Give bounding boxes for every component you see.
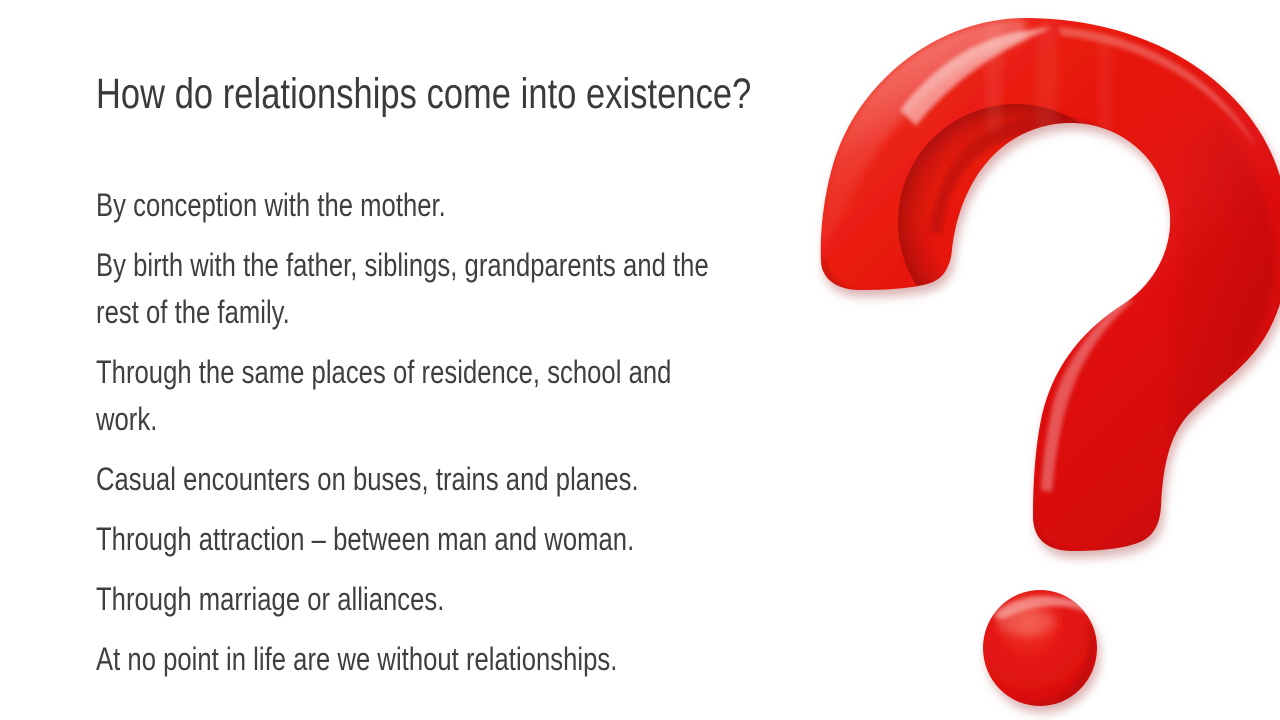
slide-canvas: How do relationships come into existence…	[0, 0, 1280, 720]
list-item: At no point in life are we without relat…	[96, 636, 916, 683]
list-item: By conception with the mother.	[96, 182, 916, 229]
bullet-list: By conception with the mother. By birth …	[96, 182, 916, 683]
list-item: Through attraction – between man and wom…	[96, 516, 916, 563]
list-item: By birth with the father, siblings, gran…	[96, 242, 736, 336]
list-item: Through the same places of residence, sc…	[96, 349, 736, 443]
list-item: Casual encounters on buses, trains and p…	[96, 456, 916, 503]
slide-text-column: How do relationships come into existence…	[96, 0, 796, 720]
question-mark-dot	[983, 590, 1097, 706]
list-item: Through marriage or alliances.	[96, 576, 916, 623]
page-title: How do relationships come into existence…	[96, 69, 656, 119]
